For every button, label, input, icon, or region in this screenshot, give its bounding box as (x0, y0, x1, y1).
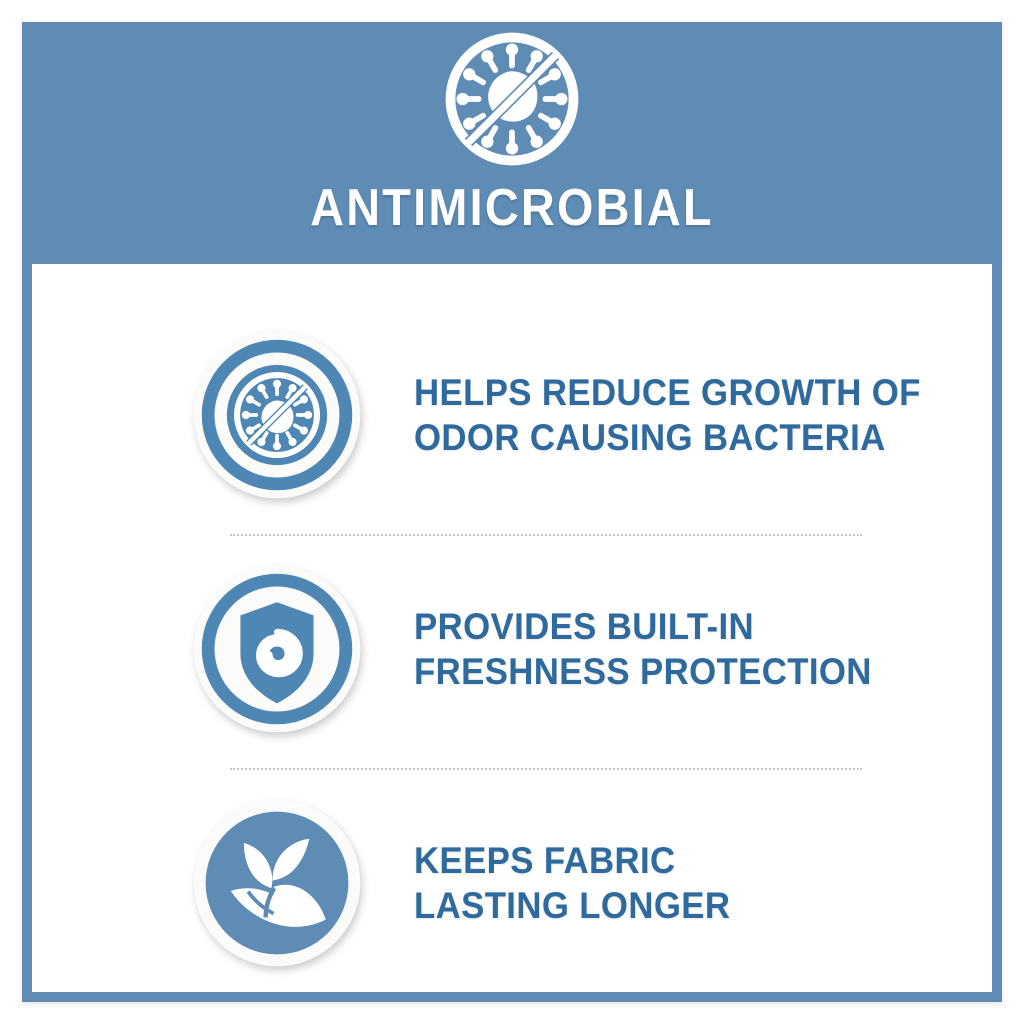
feature-text-line2: LASTING LONGER (414, 883, 863, 928)
feature-text: HELPS REDUCE GROWTH OF ODOR CAUSING BACT… (414, 370, 921, 460)
feature-list: HELPS REDUCE GROWTH OF ODOR CAUSING BACT… (32, 264, 992, 992)
no-germ-badge-icon (192, 330, 362, 500)
row-divider (230, 768, 862, 770)
row-divider (230, 534, 862, 536)
feature-text-line1: HELPS REDUCE GROWTH OF (414, 370, 921, 415)
feature-text: PROVIDES BUILT-IN FRESHNESS PROTECTION (414, 604, 872, 694)
feature-text-line2: ODOR CAUSING BACTERIA (414, 415, 921, 460)
header-banner: ANTIMICROBIAL (32, 32, 992, 264)
feature-text-line1: KEEPS FABRIC (414, 838, 863, 883)
page-title: ANTIMICROBIAL (80, 182, 944, 234)
feature-text-line1: PROVIDES BUILT-IN (414, 604, 872, 649)
content-frame: ANTIMICROBIAL (22, 22, 1002, 1002)
shield-swirl-badge-icon (192, 564, 362, 734)
antimicrobial-infographic: ANTIMICROBIAL (0, 0, 1024, 1024)
feature-row: PROVIDES BUILT-IN FRESHNESS PROTECTION (192, 554, 892, 744)
feature-text-line2: FRESHNESS PROTECTION (414, 649, 872, 694)
feature-text: KEEPS FABRIC LASTING LONGER (414, 838, 863, 928)
feature-row: HELPS REDUCE GROWTH OF ODOR CAUSING BACT… (192, 320, 892, 510)
features-panel: HELPS REDUCE GROWTH OF ODOR CAUSING BACT… (32, 264, 992, 992)
feature-row: KEEPS FABRIC LASTING LONGER (192, 788, 892, 978)
leaf-sprout-badge-icon (192, 798, 362, 968)
no-germ-icon (437, 24, 587, 174)
